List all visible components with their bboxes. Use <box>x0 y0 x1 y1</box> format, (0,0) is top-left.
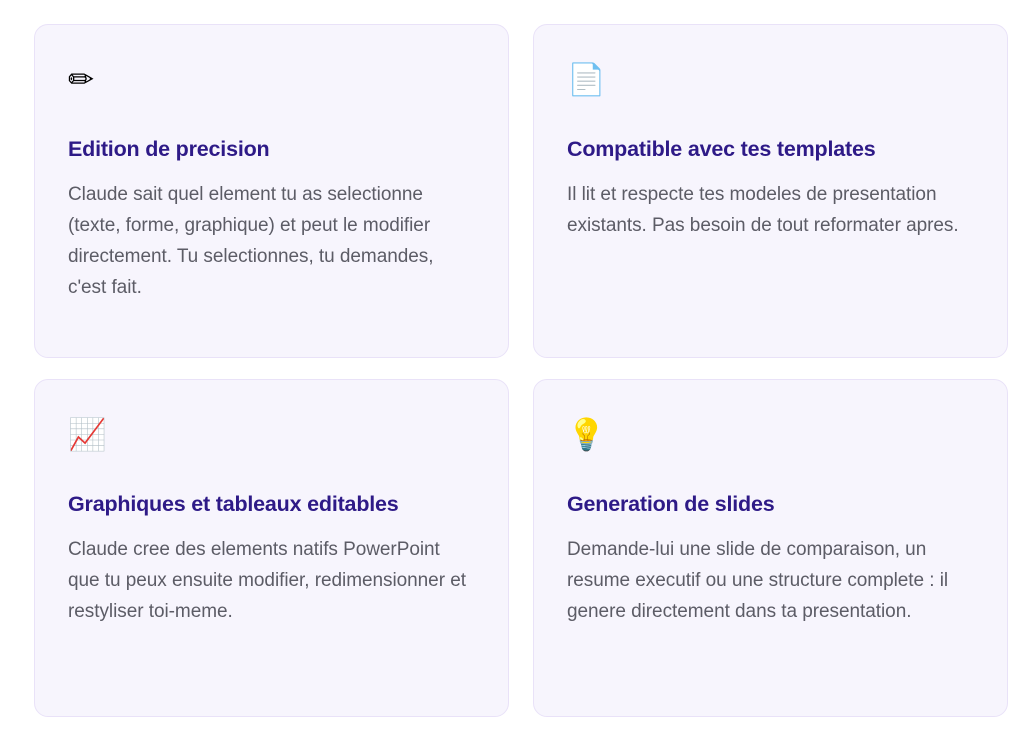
feature-card-description: Demande-lui une slide de comparaison, un… <box>567 534 975 627</box>
feature-card-description: Il lit et respecte tes modeles de presen… <box>567 179 975 241</box>
light-bulb-icon: 💡 <box>567 420 606 462</box>
feature-card-title: Generation de slides <box>567 492 774 518</box>
page-document-icon: 📄 <box>567 65 606 107</box>
feature-card-title: Compatible avec tes templates <box>567 137 875 163</box>
pencil-icon: ✏ <box>68 65 94 107</box>
feature-cards-grid: ✏ Edition de precision Claude sait quel … <box>0 0 1024 741</box>
feature-card-title: Edition de precision <box>68 137 269 163</box>
feature-card-title: Graphiques et tableaux editables <box>68 492 399 518</box>
feature-card-description: Claude sait quel element tu as selection… <box>68 179 476 303</box>
feature-card-description: Claude cree des elements natifs PowerPoi… <box>68 534 476 627</box>
feature-card-generation-de-slides: 💡 Generation de slides Demande-lui une s… <box>533 379 1008 717</box>
feature-card-edition-de-precision: ✏ Edition de precision Claude sait quel … <box>34 24 509 358</box>
feature-card-graphiques-et-tableaux-editables: 📈 Graphiques et tableaux editables Claud… <box>34 379 509 717</box>
chart-increasing-icon: 📈 <box>68 420 107 462</box>
feature-card-compatible-avec-tes-templates: 📄 Compatible avec tes templates Il lit e… <box>533 24 1008 358</box>
